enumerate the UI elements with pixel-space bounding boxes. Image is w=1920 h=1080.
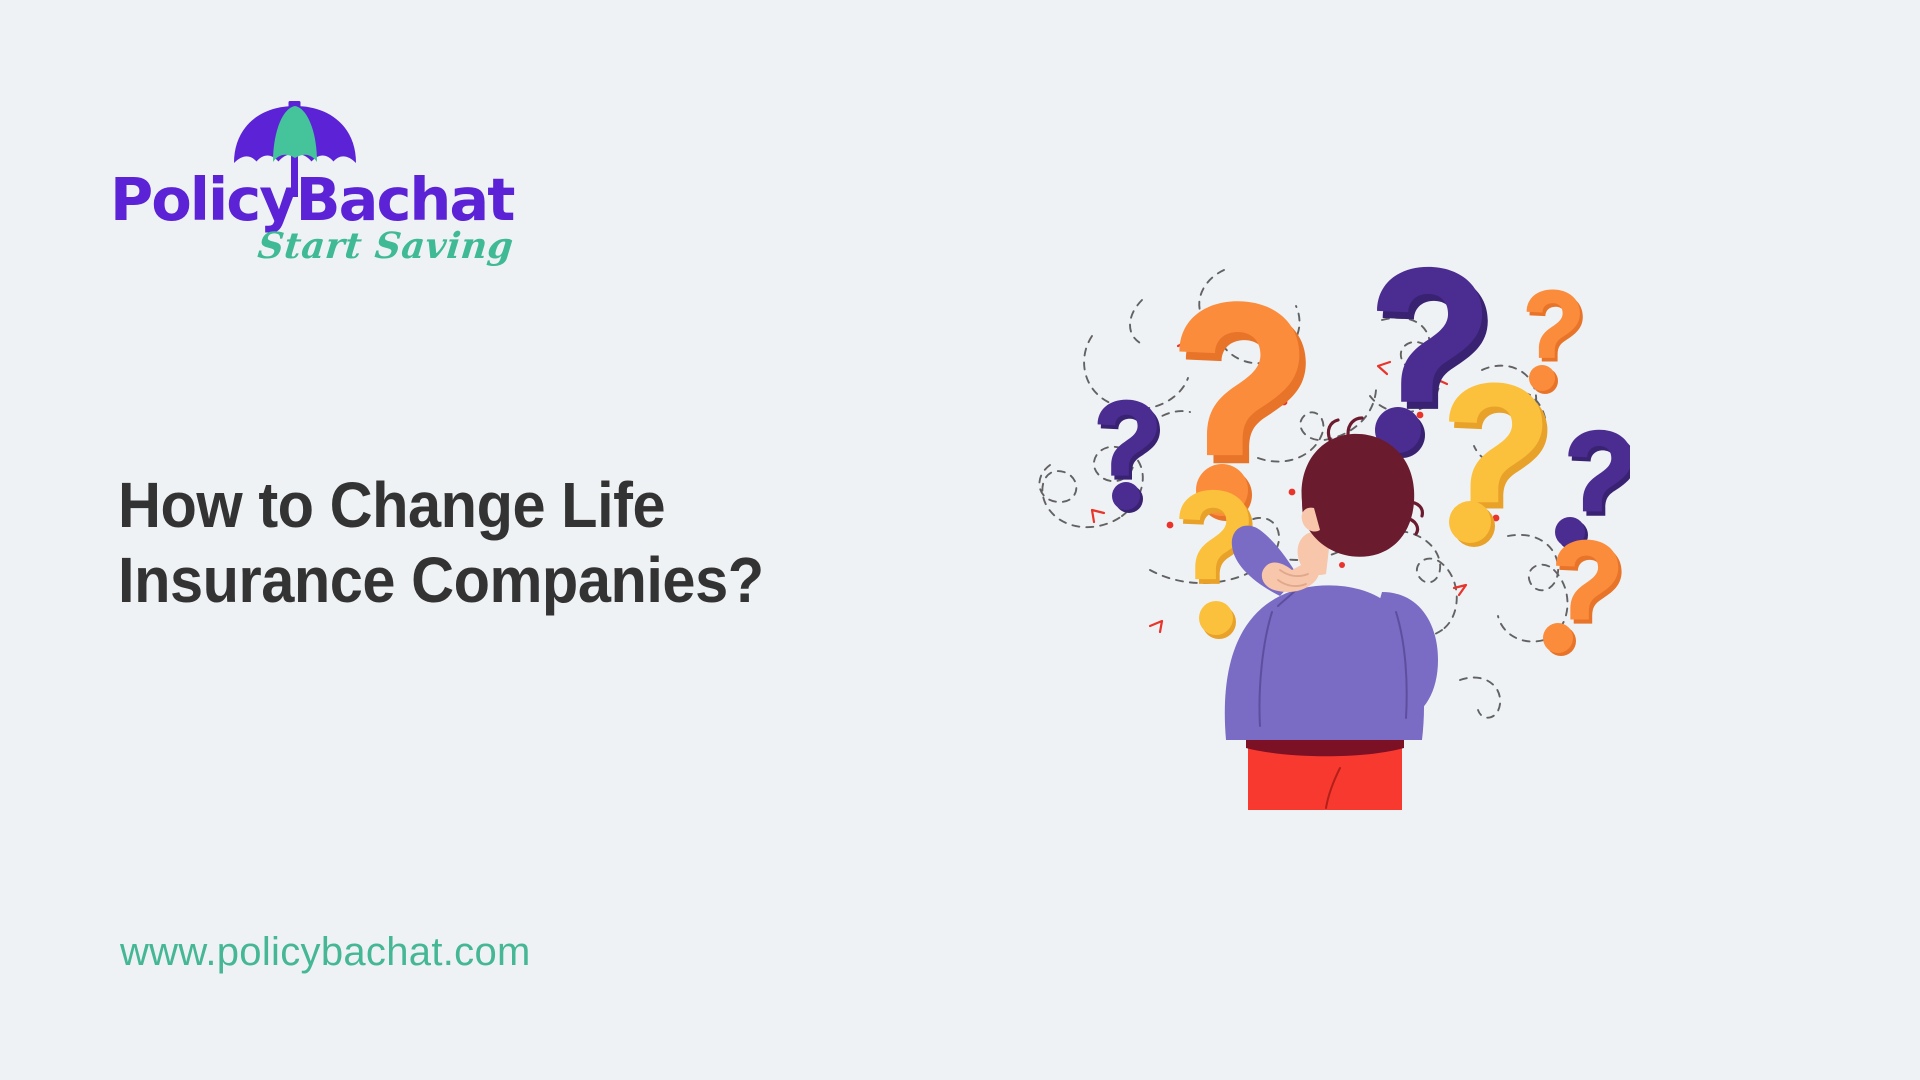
person-hair xyxy=(1302,434,1415,557)
site-url-label[interactable]: www.policybachat.com xyxy=(120,930,531,975)
logo-tagline: Start Saving xyxy=(256,228,515,264)
qm-purple-top xyxy=(1375,267,1488,458)
person-figure xyxy=(1225,418,1438,810)
site-logo[interactable]: PolicyBachat Start Saving xyxy=(110,95,530,295)
page-title-line-1: How to Change Life xyxy=(118,468,825,543)
qm-yellow-right xyxy=(1449,383,1547,547)
qm-purple-farright xyxy=(1555,430,1630,550)
logo-wordmark: PolicyBachat xyxy=(110,170,513,229)
qm-orange-large xyxy=(1179,301,1305,521)
page-title-line-2: Insurance Companies? xyxy=(118,543,825,618)
qm-purple-left xyxy=(1098,400,1160,513)
banner-canvas: PolicyBachat Start Saving How to Change … xyxy=(0,0,1920,1080)
qm-orange-topright xyxy=(1527,289,1583,394)
qm-orange-bottomright xyxy=(1543,540,1622,656)
confused-person-illustration xyxy=(1030,240,1630,810)
page-title: How to Change Life Insurance Companies? xyxy=(118,468,825,618)
